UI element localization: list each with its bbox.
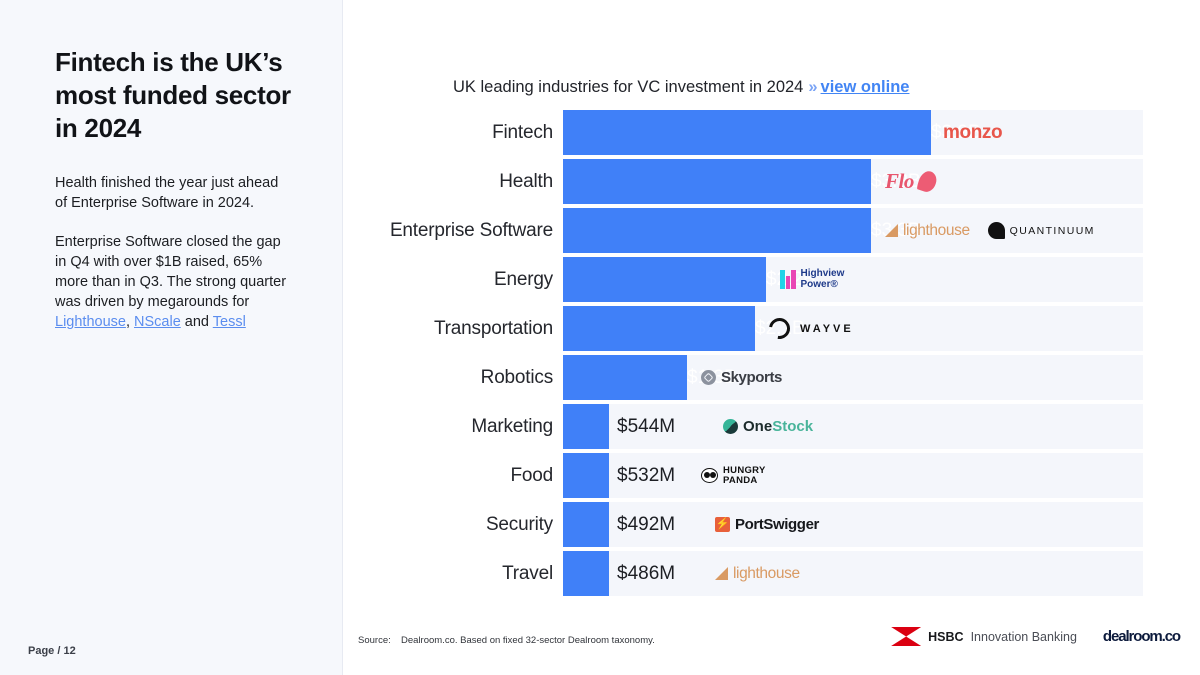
highview-power-logo: Highview Power® — [780, 269, 844, 290]
quantinuum-logo-text: QUANTINUUM — [1010, 225, 1095, 237]
panda-face-icon — [701, 468, 718, 483]
bar — [563, 551, 609, 596]
company-logos: WAYVE — [769, 306, 854, 351]
table-row: Travel $486M lighthouse — [343, 551, 1143, 596]
table-row: Fintech $3.9B monzo — [343, 110, 1143, 155]
sidebar-body: Health finished the year just ahead of E… — [55, 173, 294, 332]
footer: Source: Dealroom.co. Based on fixed 32-s… — [343, 615, 1200, 675]
portswigger-mark-icon: ⚡ — [715, 517, 730, 532]
bar — [563, 257, 766, 302]
chevron-right-icon: » — [808, 78, 817, 96]
bar — [563, 306, 755, 351]
lighthouse-mark-icon — [715, 567, 728, 580]
company-logos: OneStock — [723, 404, 813, 449]
row-label: Fintech — [343, 110, 553, 155]
table-row: Enterprise Software $3.3B lighthouse QUA… — [343, 208, 1143, 253]
hsbc-hexagon-icon — [891, 627, 921, 646]
row-label: Transportation — [343, 306, 553, 351]
row-label: Travel — [343, 551, 553, 596]
hsbc-logo-text: HSBC — [928, 630, 963, 644]
page-title: Fintech is the UK’s most funded sector i… — [55, 46, 294, 145]
monzo-logo: monzo — [943, 122, 1002, 144]
sidebar: Fintech is the UK’s most funded sector i… — [0, 0, 343, 675]
wayve-mark-icon — [765, 314, 794, 343]
chart-title: UK leading industries for VC investment … — [453, 78, 909, 97]
highview-line-1: Highview — [801, 268, 845, 279]
separator-and: and — [181, 314, 213, 330]
quantinuum-logo: QUANTINUUM — [988, 222, 1095, 239]
highview-line-2: Power® — [801, 279, 838, 290]
hungrypanda-logo-text: HUNGRY PANDA — [723, 466, 766, 486]
link-nscale[interactable]: NScale — [134, 314, 181, 330]
company-logos: lighthouse — [715, 551, 800, 596]
source-label: Source: — [358, 635, 391, 646]
company-logos: monzo — [943, 110, 1002, 155]
bar — [563, 453, 609, 498]
flo-logo: Flo — [885, 169, 936, 194]
company-logos: Highview Power® — [780, 257, 844, 302]
hungrypanda-logo: HUNGRY PANDA — [701, 466, 766, 486]
sidebar-paragraph-1: Health finished the year just ahead of E… — [55, 173, 294, 213]
onestock-logo-text: OneStock — [743, 418, 813, 436]
table-row: Energy $2.2B Highview Power® — [343, 257, 1143, 302]
portswigger-logo: ⚡ PortSwigger — [715, 516, 819, 533]
sidebar-paragraph-2-text: Enterprise Software closed the gap in Q4… — [55, 234, 286, 310]
row-label: Food — [343, 453, 553, 498]
row-label: Health — [343, 159, 553, 204]
lighthouse-logo-text: lighthouse — [903, 222, 970, 240]
footer-logos: HSBC Innovation Banking dealroom.co — [891, 627, 1180, 646]
highview-mark-icon — [780, 270, 796, 289]
view-online-link[interactable]: view online — [821, 78, 910, 96]
portswigger-logo-text: PortSwigger — [735, 516, 819, 533]
page-number: Page / 12 — [28, 645, 76, 657]
wayve-logo-text: WAYVE — [800, 323, 854, 335]
link-tessl[interactable]: Tessl — [213, 314, 246, 330]
company-logos: Flo — [885, 159, 936, 204]
highview-logo-text: Highview Power® — [801, 269, 845, 290]
row-label: Security — [343, 502, 553, 547]
row-label: Enterprise Software — [343, 208, 553, 253]
lighthouse-mark-icon — [885, 224, 898, 237]
company-logos: ⚡ PortSwigger — [715, 502, 819, 547]
chart-title-text: UK leading industries for VC investment … — [453, 78, 803, 96]
table-row: Robotics $1.3B Skyports — [343, 355, 1143, 400]
source-text: Dealroom.co. Based on fixed 32-sector De… — [401, 635, 655, 646]
skyports-mark-icon — [701, 370, 716, 385]
table-row: Health $3.3B Flo — [343, 159, 1143, 204]
bar — [563, 355, 687, 400]
lighthouse-logo-text: lighthouse — [733, 565, 800, 583]
company-logos: lighthouse QUANTINUUM — [885, 208, 1095, 253]
quantinuum-mark-icon — [988, 222, 1005, 239]
teardrop-icon — [916, 169, 939, 194]
hungrypanda-line-2: PANDA — [723, 475, 758, 486]
onestock-mark-icon — [723, 419, 738, 434]
onestock-logo: OneStock — [723, 418, 813, 436]
flo-logo-text: Flo — [885, 169, 914, 194]
bar — [563, 502, 609, 547]
row-label: Energy — [343, 257, 553, 302]
onestock-part-stock: Stock — [772, 418, 813, 435]
bar — [563, 110, 931, 155]
bar-chart: Fintech $3.9B monzo Health $3.3B Flo — [343, 110, 1143, 600]
chart-panel: UK leading industries for VC investment … — [343, 0, 1200, 675]
row-label: Robotics — [343, 355, 553, 400]
slide: Fintech is the UK’s most funded sector i… — [0, 0, 1200, 675]
separator-comma: , — [126, 314, 134, 330]
sidebar-paragraph-2: Enterprise Software closed the gap in Q4… — [55, 232, 294, 332]
bar — [563, 404, 609, 449]
bar-value: $486M — [617, 551, 675, 596]
bar-value: $544M — [617, 404, 675, 449]
row-label: Marketing — [343, 404, 553, 449]
table-row: Marketing $544M OneStock — [343, 404, 1143, 449]
table-row: Transportation $2.1B WAYVE — [343, 306, 1143, 351]
onestock-part-one: One — [743, 418, 772, 435]
hsbc-logo-subtext: Innovation Banking — [971, 630, 1077, 644]
dealroom-logo: dealroom.co — [1103, 628, 1180, 645]
table-row: Food $532M HUNGRY PANDA — [343, 453, 1143, 498]
skyports-logo: Skyports — [701, 369, 782, 386]
bar — [563, 208, 871, 253]
table-row: Security $492M ⚡ PortSwigger — [343, 502, 1143, 547]
company-logos: Skyports — [701, 355, 782, 400]
link-lighthouse[interactable]: Lighthouse — [55, 314, 126, 330]
wayve-logo: WAYVE — [769, 318, 854, 339]
lighthouse-logo: lighthouse — [885, 222, 970, 240]
hsbc-innovation-banking-logo: HSBC Innovation Banking — [891, 627, 1077, 646]
bar-value: $532M — [617, 453, 675, 498]
bar — [563, 159, 871, 204]
bar-value: $492M — [617, 502, 675, 547]
skyports-logo-text: Skyports — [721, 369, 782, 386]
lighthouse-logo: lighthouse — [715, 565, 800, 583]
company-logos: HUNGRY PANDA — [701, 453, 766, 498]
